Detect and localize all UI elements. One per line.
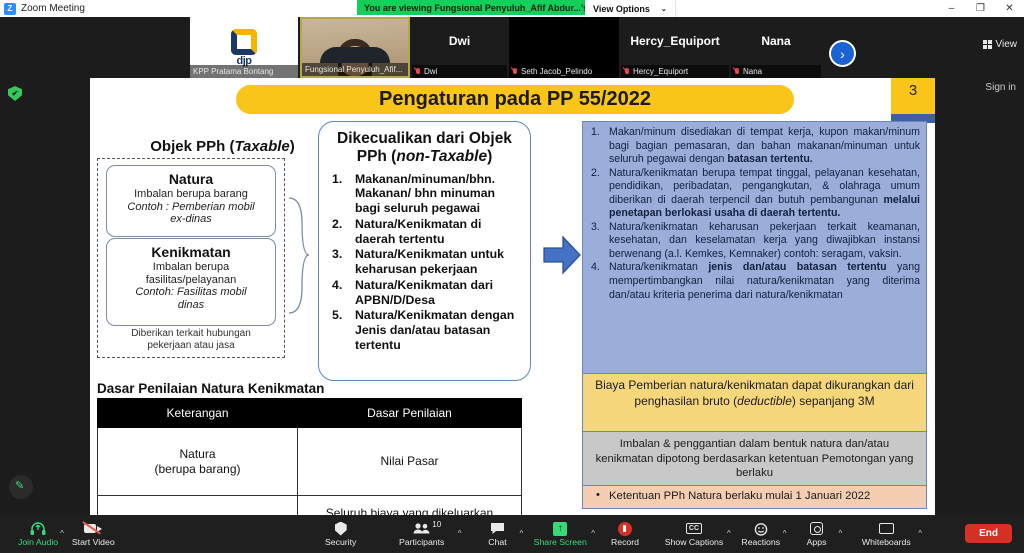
audio-options-chevron-icon[interactable]: ^ bbox=[60, 511, 64, 549]
window-controls: – ❐ ✕ bbox=[937, 0, 1024, 17]
zoom-meeting-window: Z Zoom Meeting You are viewing Fungsiona… bbox=[0, 0, 1024, 553]
reactions-label: Reactions bbox=[741, 537, 780, 547]
thumbnail-fungsional-penyuluh-afif[interactable]: Fungsional Penyuluh_Afif... bbox=[300, 17, 410, 78]
cell-seluruh-biaya: Seluruh biaya yang dikeluarkan Pemberi bbox=[298, 496, 522, 516]
share-chevron-icon[interactable]: ^ bbox=[591, 511, 595, 549]
list-item: Natura/kenikmatan berupa tempat tinggal,… bbox=[587, 167, 920, 221]
kenikmatan-card: Kenikmatan Imbalan berupa fasilitas/pela… bbox=[106, 238, 276, 326]
show-captions-button[interactable]: CC Show Captions bbox=[663, 515, 725, 553]
kenikmatan-title: Kenikmatan bbox=[113, 244, 269, 260]
taxable-footnote: Diberikan terkait hubungan pekerjaan ata… bbox=[106, 328, 276, 352]
security-label: Security bbox=[325, 537, 356, 547]
thumbnail-name: Dwi bbox=[412, 65, 507, 78]
kenikmatan-line-2: fasilitas/pelayanan bbox=[113, 274, 269, 287]
effective-date-pink-box: Ketentuan PPh Natura berlaku mulai 1 Jan… bbox=[582, 486, 927, 509]
table-row: Natura (berupa barang) Nilai Pasar bbox=[98, 428, 522, 496]
chevron-down-icon: ⌄ bbox=[661, 5, 667, 13]
non-taxable-heading: Dikecualikan dari Objek PPh (non-Taxable… bbox=[329, 130, 520, 166]
pencil-icon: ✎ bbox=[15, 481, 27, 493]
participants-icon: 10 bbox=[413, 521, 430, 536]
muted-mic-icon bbox=[734, 68, 740, 76]
exemptions-list: Makan/minum disediakan di tempat kerja, … bbox=[587, 126, 920, 302]
deductible-yellow-box: Biaya Pemberian natura/kenikmatan dapat … bbox=[582, 374, 927, 432]
thumbnail-display-name: Dwi bbox=[412, 17, 507, 65]
thumbnail-display-name: Hercy_Equiport bbox=[621, 17, 729, 65]
non-taxable-list: Makanan/minuman/bhn. Makanan/ bhn minuma… bbox=[329, 172, 520, 353]
headset-icon bbox=[30, 521, 46, 536]
thumbnail-name: KPP Pratama Bontang bbox=[190, 65, 298, 78]
show-captions-label: Show Captions bbox=[665, 537, 723, 547]
list-item: Natura/Kenikmatan dengan Jenis dan/atau … bbox=[329, 308, 520, 352]
thumbnail-nana[interactable]: Nana Nana bbox=[731, 17, 821, 78]
join-audio-button[interactable]: Join Audio bbox=[18, 515, 58, 553]
whiteboards-chevron-icon[interactable]: ^ bbox=[918, 511, 922, 549]
share-screen-icon: ↑ bbox=[553, 521, 567, 536]
participants-chevron-icon[interactable]: ^ bbox=[458, 511, 462, 549]
thumbnail-display-name: Nana bbox=[731, 17, 821, 65]
join-audio-label: Join Audio bbox=[18, 537, 58, 547]
muted-mic-icon bbox=[624, 68, 630, 76]
effective-date-list: Ketentuan PPh Natura berlaku mulai 1 Jan… bbox=[591, 489, 918, 504]
list-item: Makan/minum disediakan di tempat kerja, … bbox=[587, 126, 920, 167]
brace-connector-icon bbox=[288, 193, 310, 318]
record-label: Record bbox=[611, 537, 639, 547]
annotate-button[interactable]: ✎ bbox=[9, 475, 33, 499]
apps-label: Apps bbox=[807, 537, 827, 547]
view-options-label: View Options bbox=[593, 4, 650, 14]
thumbnail-name: Seth Jacob_Pelindo bbox=[509, 65, 619, 78]
view-options-button[interactable]: View Options ⌄ bbox=[585, 0, 675, 17]
list-item: Makanan/minuman/bhn. Makanan/ bhn minuma… bbox=[329, 172, 520, 216]
chat-chevron-icon[interactable]: ^ bbox=[519, 511, 523, 549]
start-video-label: Start Video bbox=[72, 537, 115, 547]
closed-captions-icon: CC bbox=[686, 521, 702, 536]
record-icon bbox=[618, 521, 632, 536]
table-header-row: Keterangan Dasar Penilaian bbox=[98, 399, 522, 428]
column-header-keterangan: Keterangan bbox=[98, 399, 298, 428]
natura-line-1: Imbalan berupa barang bbox=[113, 188, 269, 201]
exemptions-blue-box: Makan/minum disediakan di tempat kerja, … bbox=[582, 121, 927, 374]
slide-page-number: 3 bbox=[891, 78, 935, 114]
share-screen-label: Share Screen bbox=[534, 537, 587, 547]
thumbnail-seth-jacob-pelindo[interactable]: Seth Jacob_Pelindo bbox=[509, 17, 619, 78]
next-page-arrow-icon[interactable]: › bbox=[829, 40, 856, 67]
objek-pph-heading: Objek PPh (Taxable) bbox=[115, 138, 330, 155]
grid-icon bbox=[983, 40, 992, 49]
thumbnail-name: Nana bbox=[731, 65, 821, 78]
reactions-button[interactable]: Reactions bbox=[741, 515, 781, 553]
record-button[interactable]: Record bbox=[605, 515, 645, 553]
chat-button[interactable]: Chat bbox=[477, 515, 517, 553]
view-layout-button[interactable]: View bbox=[983, 39, 1018, 50]
kenikmatan-line-4: dinas bbox=[113, 299, 269, 312]
thumbnail-hercy-equiport[interactable]: Hercy_Equiport Hercy_Equiport bbox=[621, 17, 729, 78]
natura-card: Natura Imbalan berupa barang Contoh : Pe… bbox=[106, 165, 276, 237]
participants-label: Participants bbox=[399, 537, 444, 547]
whiteboards-label: Whiteboards bbox=[862, 537, 911, 547]
captions-chevron-icon[interactable]: ^ bbox=[727, 511, 731, 549]
natura-line-2: Contoh : Pemberian mobil bbox=[113, 201, 269, 214]
shared-screen-slide: Pengaturan pada PP 55/2022 3 Objek PPh (… bbox=[90, 78, 935, 515]
left-rail: ✔ ✎ bbox=[0, 78, 40, 515]
cell-nilai-pasar: Nilai Pasar bbox=[298, 428, 522, 496]
maximize-button[interactable]: ❐ bbox=[966, 0, 995, 17]
shield-icon bbox=[335, 521, 347, 536]
natura-line-3: ex-dinas bbox=[113, 213, 269, 226]
non-taxable-card: Dikecualikan dari Objek PPh (non-Taxable… bbox=[318, 121, 531, 381]
list-item: Natura/kenikmatan jenis dan/atau batasan… bbox=[587, 261, 920, 302]
meeting-toolbar: Join Audio ^ Start Video Security 10 Par… bbox=[0, 515, 1024, 553]
kenikmatan-line-3: Contoh: Fasilitas mobil bbox=[113, 286, 269, 299]
end-meeting-button[interactable]: End bbox=[965, 524, 1012, 543]
list-item: Natura/kenikmatan keharusan pekerjaan te… bbox=[587, 221, 920, 262]
withholding-grey-box: Imbalan & penggantian dalam bentuk natur… bbox=[582, 432, 927, 486]
window-titlebar: Z Zoom Meeting You are viewing Fungsiona… bbox=[0, 0, 1024, 17]
cell-kenikmatan: Kenikmatan bbox=[98, 496, 298, 516]
zoom-logo-icon: Z bbox=[4, 3, 16, 15]
window-title: Zoom Meeting bbox=[21, 3, 85, 14]
participant-filmstrip: djp KPP Pratama Bontang Fungsional Penyu… bbox=[0, 17, 1024, 78]
sign-in-button[interactable]: Sign in bbox=[985, 82, 1016, 93]
participants-button[interactable]: 10 Participants bbox=[396, 515, 448, 553]
apps-chevron-icon[interactable]: ^ bbox=[839, 511, 843, 549]
whiteboard-icon bbox=[879, 521, 894, 536]
right-arrow-icon bbox=[543, 235, 581, 275]
slide-title: Pengaturan pada PP 55/2022 bbox=[236, 85, 794, 114]
security-shield-icon: ✔ bbox=[8, 86, 22, 101]
thumbnail-kpp-pratama-bontang[interactable]: djp KPP Pratama Bontang bbox=[190, 17, 298, 78]
whiteboards-button[interactable]: Whiteboards bbox=[856, 515, 916, 553]
chat-label: Chat bbox=[488, 537, 506, 547]
list-item: Natura/Kenikmatan di daerah tertentu bbox=[329, 217, 520, 247]
thumbnail-name: Hercy_Equiport bbox=[621, 65, 729, 78]
thumbnail-name: Fungsional Penyuluh_Afif... bbox=[302, 63, 408, 76]
kenikmatan-line-1: Imbalan berupa bbox=[113, 261, 269, 274]
muted-mic-icon bbox=[512, 68, 518, 76]
participant-count-badge: 10 bbox=[432, 520, 441, 529]
dasar-penilaian-table: Keterangan Dasar Penilaian Natura (berup… bbox=[97, 398, 522, 515]
right-detail-panel: Makan/minum disediakan di tempat kerja, … bbox=[582, 121, 927, 509]
minimize-button[interactable]: – bbox=[937, 0, 966, 17]
reactions-chevron-icon[interactable]: ^ bbox=[783, 511, 787, 549]
list-item: Natura/Kenikmatan untuk keharusan pekerj… bbox=[329, 247, 520, 277]
start-video-button[interactable]: Start Video bbox=[72, 515, 115, 553]
list-item: Natura/Kenikmatan dari APBN/D/Desa bbox=[329, 278, 520, 308]
security-button[interactable]: Security bbox=[321, 515, 361, 553]
cell-natura: Natura (berupa barang) bbox=[98, 428, 298, 496]
close-button[interactable]: ✕ bbox=[995, 0, 1024, 17]
list-item: Ketentuan PPh Natura berlaku mulai 1 Jan… bbox=[591, 489, 918, 504]
apps-button[interactable]: Apps bbox=[797, 515, 837, 553]
view-label: View bbox=[996, 39, 1018, 50]
share-screen-button[interactable]: ↑ Share Screen bbox=[531, 515, 589, 553]
column-header-dasar-penilaian: Dasar Penilaian bbox=[298, 399, 522, 428]
natura-title: Natura bbox=[113, 171, 269, 187]
camera-off-icon bbox=[84, 521, 102, 536]
apps-icon bbox=[810, 521, 823, 536]
reactions-icon bbox=[754, 521, 768, 536]
muted-mic-icon bbox=[415, 68, 421, 76]
chat-icon bbox=[490, 521, 505, 536]
table-caption: Dasar Penilaian Natura Kenikmatan bbox=[97, 381, 324, 396]
thumbnail-dwi[interactable]: Dwi Dwi bbox=[412, 17, 507, 78]
